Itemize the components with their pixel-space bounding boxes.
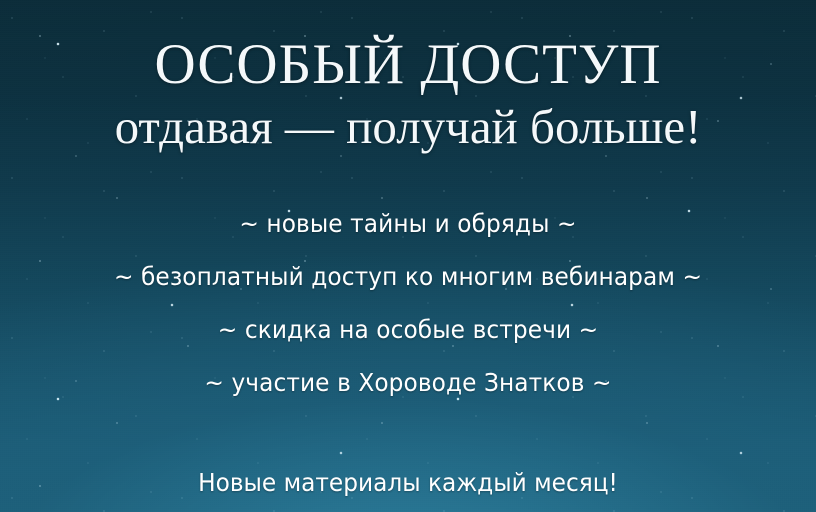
benefit-item-4: ~ участие в Хороводе Знатков ~ <box>29 356 788 409</box>
promo-poster: ОСОБЫЙ ДОСТУП отдавая — получай больше! … <box>0 0 816 512</box>
poster-footnote: Новые материалы каждый месяц! <box>29 466 788 500</box>
benefit-item-2: ~ безоплатный доступ ко многим вебинарам… <box>29 250 788 303</box>
poster-headline: ОСОБЫЙ ДОСТУП <box>0 36 816 94</box>
benefits-list: ~ новые тайны и обряды ~ ~ безоплатный д… <box>0 197 816 409</box>
benefit-item-3: ~ скидка на особые встречи ~ <box>29 303 788 356</box>
poster-content: ОСОБЫЙ ДОСТУП отдавая — получай больше! … <box>0 0 816 512</box>
poster-subheadline: отдавая — получай больше! <box>0 101 816 154</box>
benefit-item-1: ~ новые тайны и обряды ~ <box>29 197 788 250</box>
